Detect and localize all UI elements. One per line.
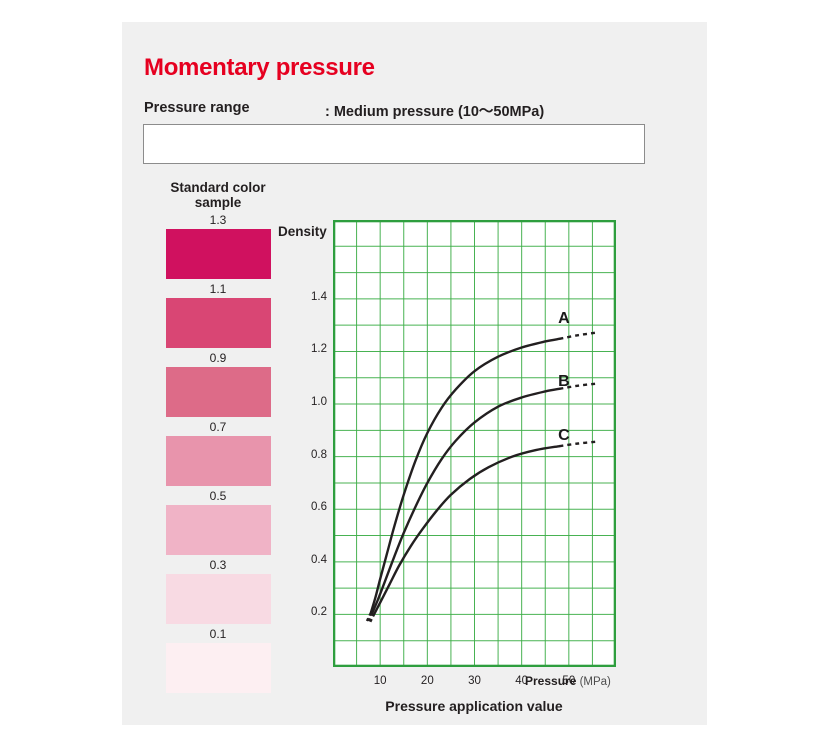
y-tick-label: 1.4	[293, 291, 327, 303]
curve-label-b: B	[558, 373, 570, 391]
x-tick-label: 10	[365, 675, 395, 687]
swatch-chip	[166, 436, 271, 486]
swatch-item: 0.9	[157, 350, 279, 417]
pressure-range-label: Pressure range	[144, 100, 250, 116]
swatch-value: 1.1	[157, 281, 279, 297]
y-tick-label: 0.4	[293, 554, 327, 566]
y-tick-label: 0.6	[293, 501, 327, 513]
swatch-item: 0.1	[157, 626, 279, 693]
content-panel: Momentary pressure Pressure range : Medi…	[122, 22, 707, 725]
swatch-list: 1.31.10.90.70.50.30.1	[157, 212, 279, 693]
x-tick-label: 20	[412, 675, 442, 687]
swatch-chip	[166, 298, 271, 348]
page-title: Momentary pressure	[144, 54, 375, 82]
heading-line-2: sample	[157, 195, 279, 210]
swatch-value: 0.7	[157, 419, 279, 435]
x-tick-label: 30	[460, 675, 490, 687]
swatch-value: 0.5	[157, 488, 279, 504]
note-textbox[interactable]	[143, 124, 645, 164]
swatch-item: 1.1	[157, 281, 279, 348]
swatch-chip	[166, 643, 271, 693]
pressure-range-row: Pressure range : Medium pressure (10〜50M…	[144, 100, 664, 122]
curve-label-c: C	[558, 427, 570, 445]
plot-svg	[333, 220, 616, 667]
swatch-value: 0.9	[157, 350, 279, 366]
swatch-chip	[166, 229, 271, 279]
swatch-chip	[166, 367, 271, 417]
swatch-item: 0.5	[157, 488, 279, 555]
standard-color-sample-heading: Standard color sample	[157, 180, 279, 210]
swatch-value: 1.3	[157, 212, 279, 228]
screenshot-root: Momentary pressure Pressure range : Medi…	[0, 0, 816, 747]
swatch-chip	[166, 505, 271, 555]
y-axis-title: Density	[278, 224, 327, 239]
pressure-range-value: : Medium pressure (10〜50MPa)	[325, 100, 544, 121]
x-axis-unit-bold: Pressure	[525, 674, 576, 688]
swatch-item: 0.3	[157, 557, 279, 624]
y-tick-label: 1.2	[293, 343, 327, 355]
swatch-chip	[166, 574, 271, 624]
density-pressure-chart: Density 0.20.40.60.81.01.21.4 1020304050…	[272, 180, 692, 700]
x-axis-title: Pressure application value	[324, 698, 624, 714]
standard-color-sample-column: Standard color sample 1.31.10.90.70.50.3…	[157, 180, 279, 693]
swatch-value: 0.1	[157, 626, 279, 642]
x-axis-unit: Pressure (MPa)	[525, 674, 611, 688]
x-axis-unit-paren: (MPa)	[580, 676, 611, 688]
y-tick-label: 1.0	[293, 396, 327, 408]
y-tick-label: 0.8	[293, 449, 327, 461]
swatch-value: 0.3	[157, 557, 279, 573]
y-tick-label: 0.2	[293, 606, 327, 618]
plot-area	[333, 220, 616, 667]
heading-line-1: Standard color	[157, 180, 279, 195]
swatch-item: 1.3	[157, 212, 279, 279]
swatch-item: 0.7	[157, 419, 279, 486]
curve-label-a: A	[558, 310, 570, 328]
